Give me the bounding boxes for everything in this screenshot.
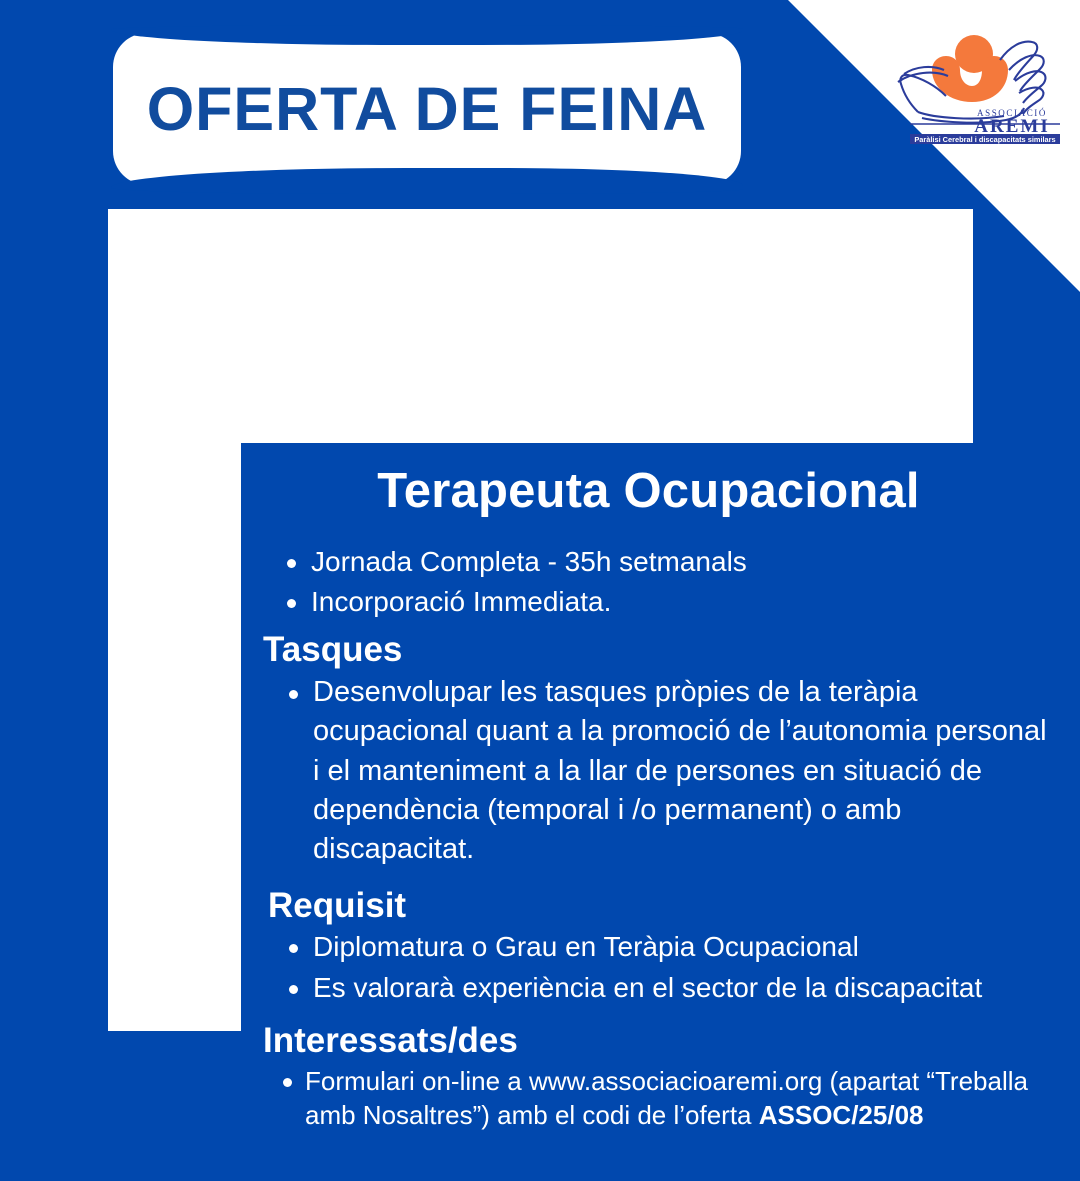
job-summary-list: Jornada Completa - 35h setmanals Incorpo… xyxy=(241,543,1056,621)
content-panel: Terapeuta Ocupacional Jornada Completa -… xyxy=(241,443,1056,1181)
tasques-list: Desenvolupar les tasques pròpies de la t… xyxy=(241,673,1056,870)
list-item: Diplomatura o Grau en Teràpia Ocupaciona… xyxy=(241,928,1056,967)
list-item: Es valorarà experiència en el sector de … xyxy=(241,969,1056,1008)
offer-code: ASSOC/25/08 xyxy=(759,1100,924,1130)
section-heading-requisit: Requisit xyxy=(241,886,1056,926)
logo-org-name: AREMI xyxy=(974,116,1049,137)
list-item: Incorporació Immediata. xyxy=(241,583,1056,621)
list-item: Desenvolupar les tasques pròpies de la t… xyxy=(241,673,1056,870)
logo-tagline: Paràlisi Cerebral i discapacitats simila… xyxy=(914,135,1055,144)
job-position-title: Terapeuta Ocupacional xyxy=(241,465,1056,519)
section-heading-tasques: Tasques xyxy=(241,630,1056,670)
title-banner: OFERTA DE FEINA xyxy=(113,33,741,185)
section-heading-interessats: Interessats/des xyxy=(241,1021,1056,1061)
list-item: Formulari on-line a www.associacioaremi.… xyxy=(241,1064,1056,1133)
aremi-logo: ASSOCIACIÓ AREMI Paràlisi Cerebral i dis… xyxy=(888,26,1068,146)
list-item: Jornada Completa - 35h setmanals xyxy=(241,543,1056,581)
page-title: OFERTA DE FEINA xyxy=(147,74,708,144)
requisit-list: Diplomatura o Grau en Teràpia Ocupaciona… xyxy=(241,928,1056,1007)
interessats-list: Formulari on-line a www.associacioaremi.… xyxy=(241,1064,1056,1133)
content-white-frame: Terapeuta Ocupacional Jornada Completa -… xyxy=(108,209,973,1031)
